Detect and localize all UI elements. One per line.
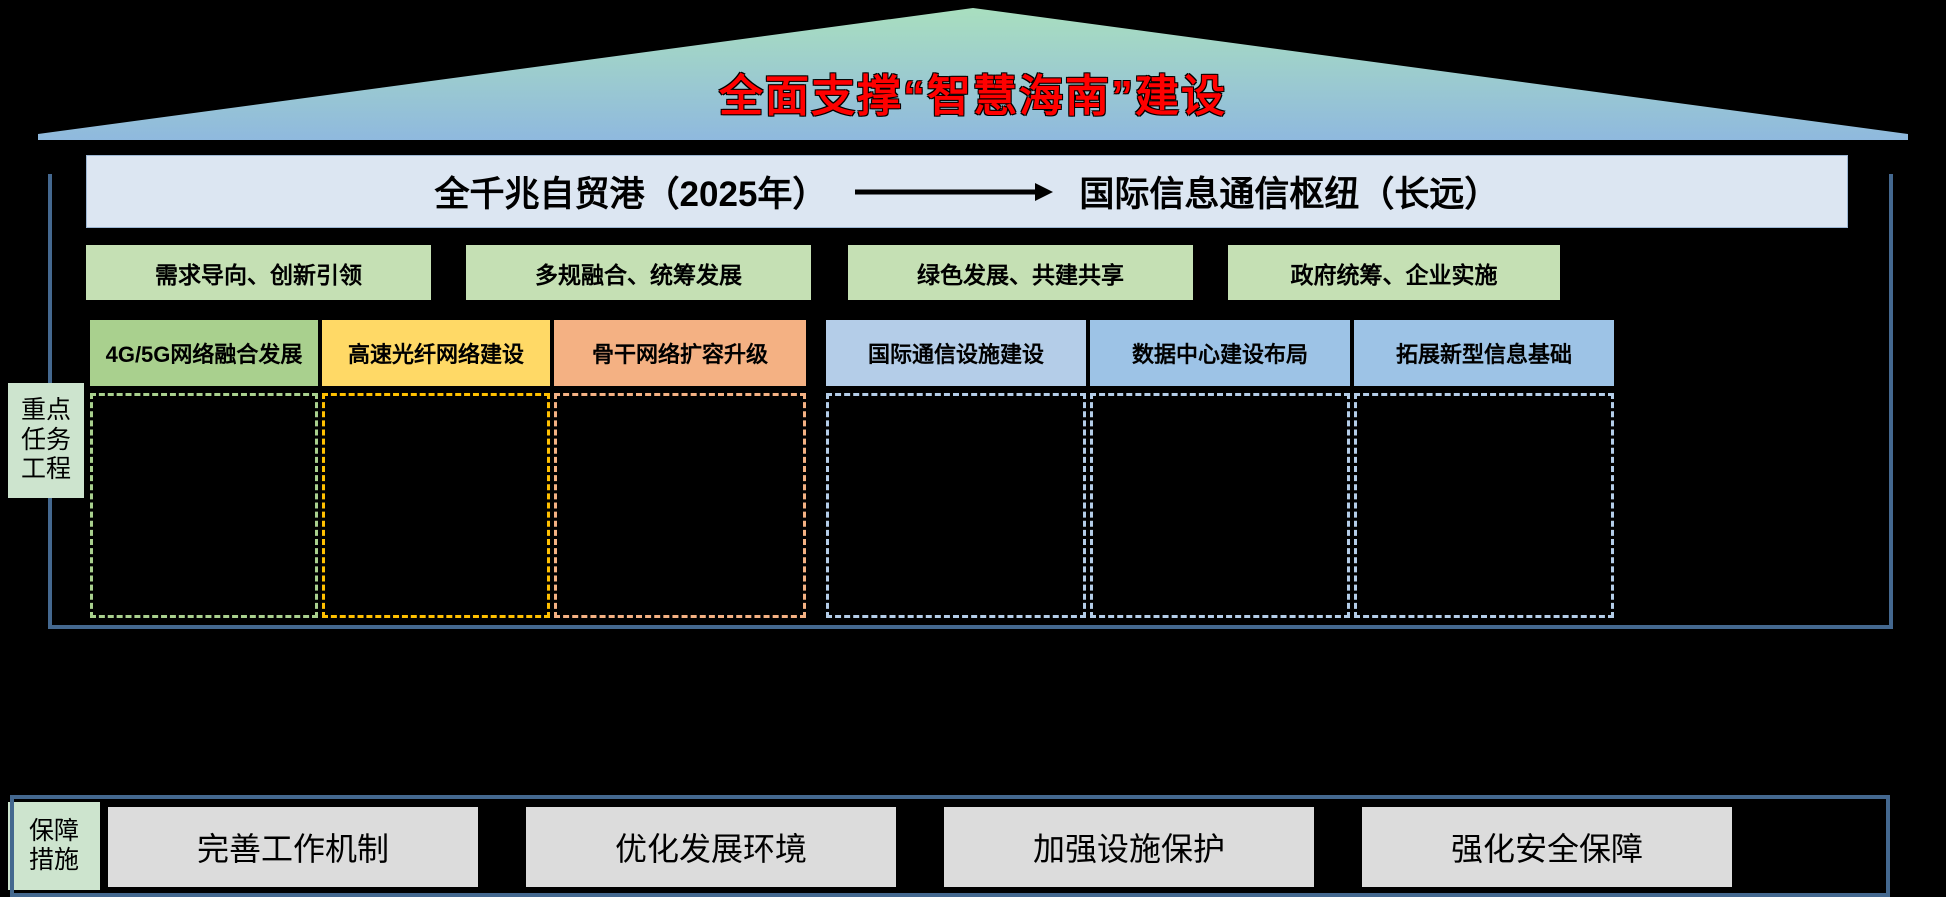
- task-detail-panel-1[interactable]: [90, 393, 318, 618]
- measure-box-2[interactable]: 优化发展环境: [526, 807, 896, 887]
- task-header-6[interactable]: 拓展新型信息基础: [1354, 320, 1614, 386]
- roof-title: 全面支撑“智慧海南”建设: [38, 60, 1908, 124]
- side-key-line-2: 任务: [21, 426, 71, 456]
- task-header-5[interactable]: 数据中心建设布局: [1090, 320, 1350, 386]
- principle-box-3[interactable]: 绿色发展、共建共享: [848, 245, 1193, 300]
- diagram-canvas: 全面支撑“智慧海南”建设 全千兆自贸港（2025年） 国际信息通信枢纽（长远） …: [0, 0, 1946, 897]
- measure-box-4[interactable]: 强化安全保障: [1362, 807, 1732, 887]
- task-headers-row: 4G/5G网络融合发展 高速光纤网络建设 骨干网络扩容升级 国际通信设施建设 数…: [90, 320, 1866, 386]
- roof-triangle: 全面支撑“智慧海南”建设: [38, 8, 1908, 140]
- vision-bar: 全千兆自贸港（2025年） 国际信息通信枢纽（长远）: [86, 155, 1848, 228]
- side-key-line-3: 工程: [21, 455, 71, 485]
- vision-long-term: 国际信息通信枢纽（长远）: [1079, 166, 1499, 217]
- measure-box-1[interactable]: 完善工作机制: [108, 807, 478, 887]
- arrow-right-icon: [853, 179, 1053, 205]
- measure-box-3[interactable]: 加强设施保护: [944, 807, 1314, 887]
- task-header-4[interactable]: 国际通信设施建设: [826, 320, 1086, 386]
- measures-row: 完善工作机制 优化发展环境 加强设施保护 强化安全保障: [108, 807, 1888, 887]
- side-key-line-1: 重点: [21, 396, 71, 426]
- task-header-3[interactable]: 骨干网络扩容升级: [554, 320, 806, 386]
- task-detail-panel-6[interactable]: [1354, 393, 1614, 618]
- principles-row: 需求导向、创新引领 多规融合、统筹发展 绿色发展、共建共享 政府统筹、企业实施: [86, 245, 1860, 300]
- task-detail-panel-3[interactable]: [554, 393, 806, 618]
- task-detail-panels: [90, 393, 1866, 618]
- task-detail-panel-2[interactable]: [322, 393, 550, 618]
- principle-box-4[interactable]: 政府统筹、企业实施: [1228, 245, 1560, 300]
- principle-box-1[interactable]: 需求导向、创新引领: [86, 245, 431, 300]
- principle-box-2[interactable]: 多规融合、统筹发展: [466, 245, 811, 300]
- task-header-2[interactable]: 高速光纤网络建设: [322, 320, 550, 386]
- task-detail-panel-4[interactable]: [826, 393, 1086, 618]
- side-label-key-tasks: 重点任务工程: [8, 383, 84, 498]
- task-detail-panel-5[interactable]: [1090, 393, 1350, 618]
- task-header-1[interactable]: 4G/5G网络融合发展: [90, 320, 318, 386]
- vision-near-term: 全千兆自贸港（2025年）: [435, 166, 828, 217]
